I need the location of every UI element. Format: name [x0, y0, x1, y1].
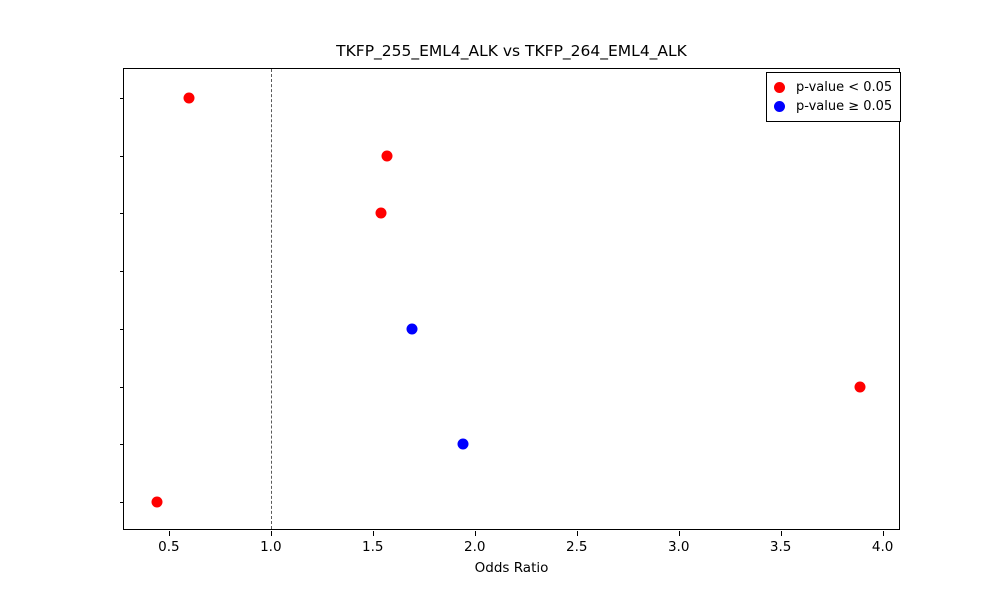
plot-area: 0.51.01.52.02.53.03.54.0LoopBendTurnPi h…: [123, 68, 900, 530]
legend-marker-icon: [774, 101, 785, 112]
y-axis-tick-mark: [120, 387, 125, 388]
x-axis-label: Odds Ratio: [123, 560, 900, 576]
x-axis-tick-mark: [475, 531, 476, 536]
x-axis-tick-mark: [781, 531, 782, 536]
x-axis-tick-mark: [271, 531, 272, 536]
x-axis-tick-mark: [373, 531, 374, 536]
legend-item[interactable]: p-value < 0.05: [774, 78, 892, 97]
y-axis-tick-mark: [120, 213, 125, 214]
x-axis-tick-label: 2.5: [566, 539, 587, 555]
x-axis-tick-label: 1.0: [260, 539, 281, 555]
y-axis-tick-mark: [120, 98, 125, 99]
data-point[interactable]: [382, 150, 393, 161]
legend-marker-icon: [774, 82, 785, 93]
data-point[interactable]: [457, 439, 468, 450]
chart-title: TKFP_255_EML4_ALK vs TKFP_264_EML4_ALK: [123, 42, 900, 60]
plot-inner: 0.51.01.52.02.53.03.54.0LoopBendTurnPi h…: [124, 69, 899, 529]
legend-label: p-value ≥ 0.05: [796, 99, 892, 114]
x-axis-tick-label: 3.5: [770, 539, 791, 555]
x-axis-tick-label: 1.5: [362, 539, 383, 555]
y-axis-tick-mark: [120, 444, 125, 445]
legend: p-value < 0.05p-value ≥ 0.05: [766, 72, 901, 122]
x-axis-tick-label: 0.5: [158, 539, 179, 555]
y-axis-tick-mark: [120, 502, 125, 503]
data-point[interactable]: [375, 208, 386, 219]
x-axis-tick-label: 4.0: [872, 539, 893, 555]
x-axis-tick-label: 3.0: [668, 539, 689, 555]
x-axis-tick-mark: [679, 531, 680, 536]
x-axis-tick-mark: [169, 531, 170, 536]
x-axis-tick-mark: [577, 531, 578, 536]
legend-label: p-value < 0.05: [796, 80, 892, 95]
data-point[interactable]: [184, 92, 195, 103]
legend-item[interactable]: p-value ≥ 0.05: [774, 97, 892, 116]
y-axis-tick-mark: [120, 156, 125, 157]
figure-canvas: TKFP_255_EML4_ALK vs TKFP_264_EML4_ALK 0…: [0, 0, 1000, 600]
reference-line-or-1: [271, 69, 272, 529]
data-point[interactable]: [406, 323, 417, 334]
data-point[interactable]: [151, 497, 162, 508]
data-point[interactable]: [855, 381, 866, 392]
y-axis-tick-mark: [120, 329, 125, 330]
y-axis-tick-mark: [120, 271, 125, 272]
x-axis-tick-mark: [883, 531, 884, 536]
x-axis-tick-label: 2.0: [464, 539, 485, 555]
